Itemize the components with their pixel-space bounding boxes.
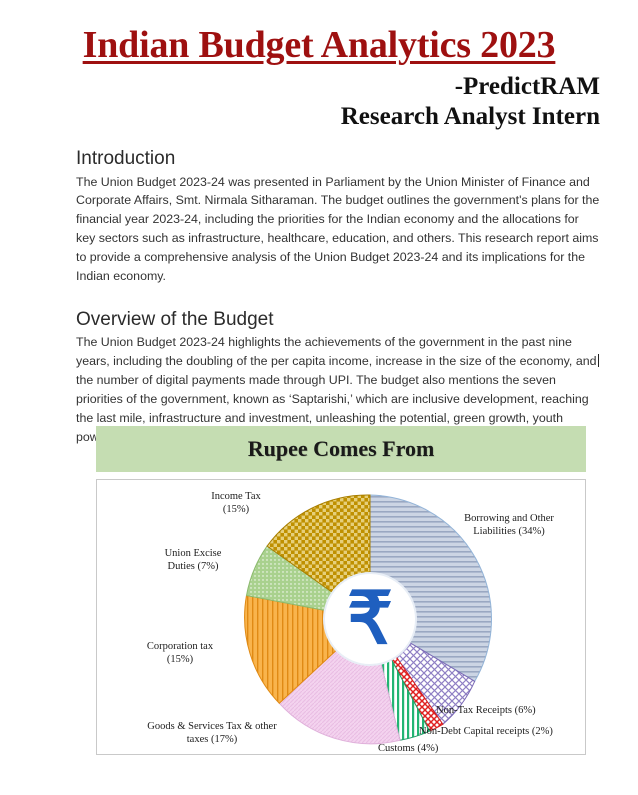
page-title-text: Indian Budget Analytics 2023 (83, 24, 556, 66)
chart-banner: Rupee Comes From (96, 426, 586, 472)
pie-label-non-debt-capital: Non-Debt Capital receipts (2%) (419, 725, 579, 738)
section-heading-overview: Overview of the Budget (76, 308, 600, 332)
section-paragraph-introduction: The Union Budget 2023-24 was presented i… (76, 173, 600, 286)
figure-rupee-comes-from: Rupee Comes From (96, 426, 586, 755)
page-title: Indian Budget Analytics 2023 (0, 26, 638, 66)
document-body: Introduction The Union Budget 2023-24 wa… (0, 147, 638, 447)
pie-label-union-excise: Union Excise Duties (7%) (141, 547, 245, 573)
rupee-symbol: ₹ (347, 579, 393, 659)
section-introduction: Introduction The Union Budget 2023-24 wa… (76, 147, 600, 286)
pie-label-non-tax-receipts: Non-Tax Receipts (6%) (436, 704, 576, 717)
byline: -PredictRAM Research Analyst Intern (0, 72, 600, 133)
pie-label-customs: Customs (4%) (378, 742, 488, 755)
text-cursor-caret (598, 354, 599, 367)
pie-label-borrowing: Borrowing and Other Liabilities (34%) (447, 512, 571, 538)
chart-container: ₹ Income Tax (15%) Union Excise Duties (… (96, 479, 586, 755)
pie-label-income-tax: Income Tax (15%) (181, 490, 291, 516)
chart-banner-title: Rupee Comes From (248, 436, 435, 462)
overview-text-before-caret: The Union Budget 2023-24 highlights the … (76, 335, 597, 368)
pie-label-gst: Goods & Services Tax & other taxes (17%) (127, 720, 297, 746)
section-heading-introduction: Introduction (76, 147, 600, 171)
byline-role: Research Analyst Intern (0, 102, 600, 133)
byline-organization: -PredictRAM (0, 72, 600, 103)
pie-label-corporation-tax: Corporation tax (15%) (125, 640, 235, 666)
